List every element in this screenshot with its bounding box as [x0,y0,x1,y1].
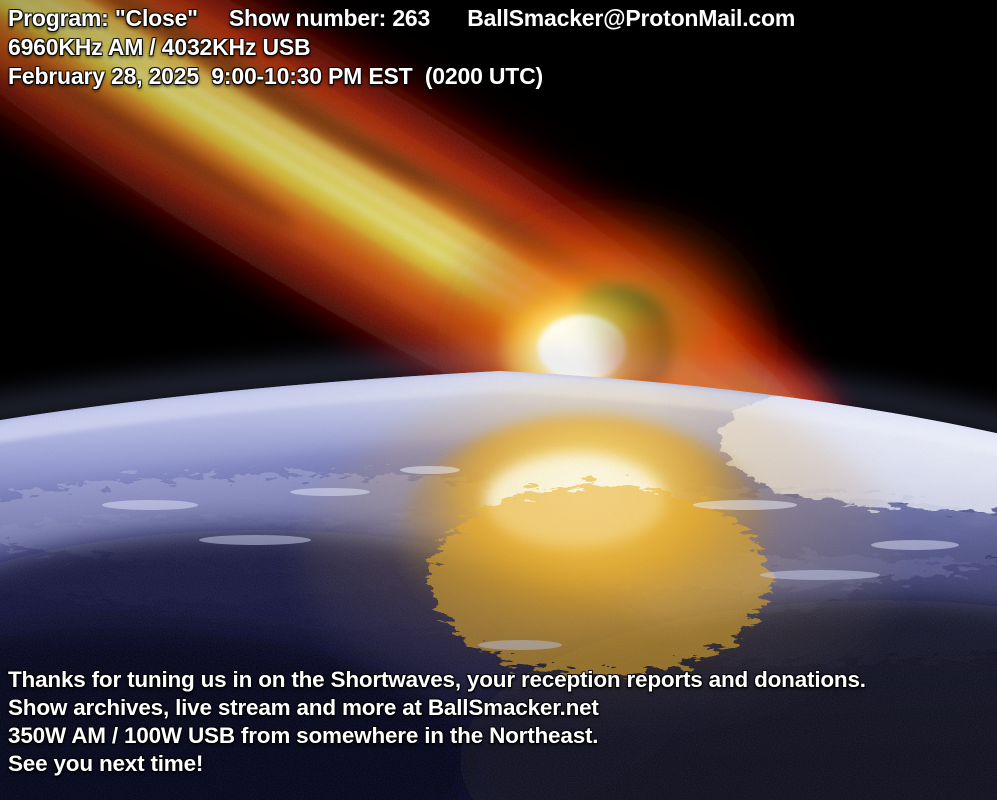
meteor-green-fringe [590,274,706,366]
meteor-impact-artwork [0,0,997,800]
shortwave-radio-qsl-poster: Program: "Close" Show number: 263 BallSm… [0,0,997,800]
earth-grain [0,360,997,800]
